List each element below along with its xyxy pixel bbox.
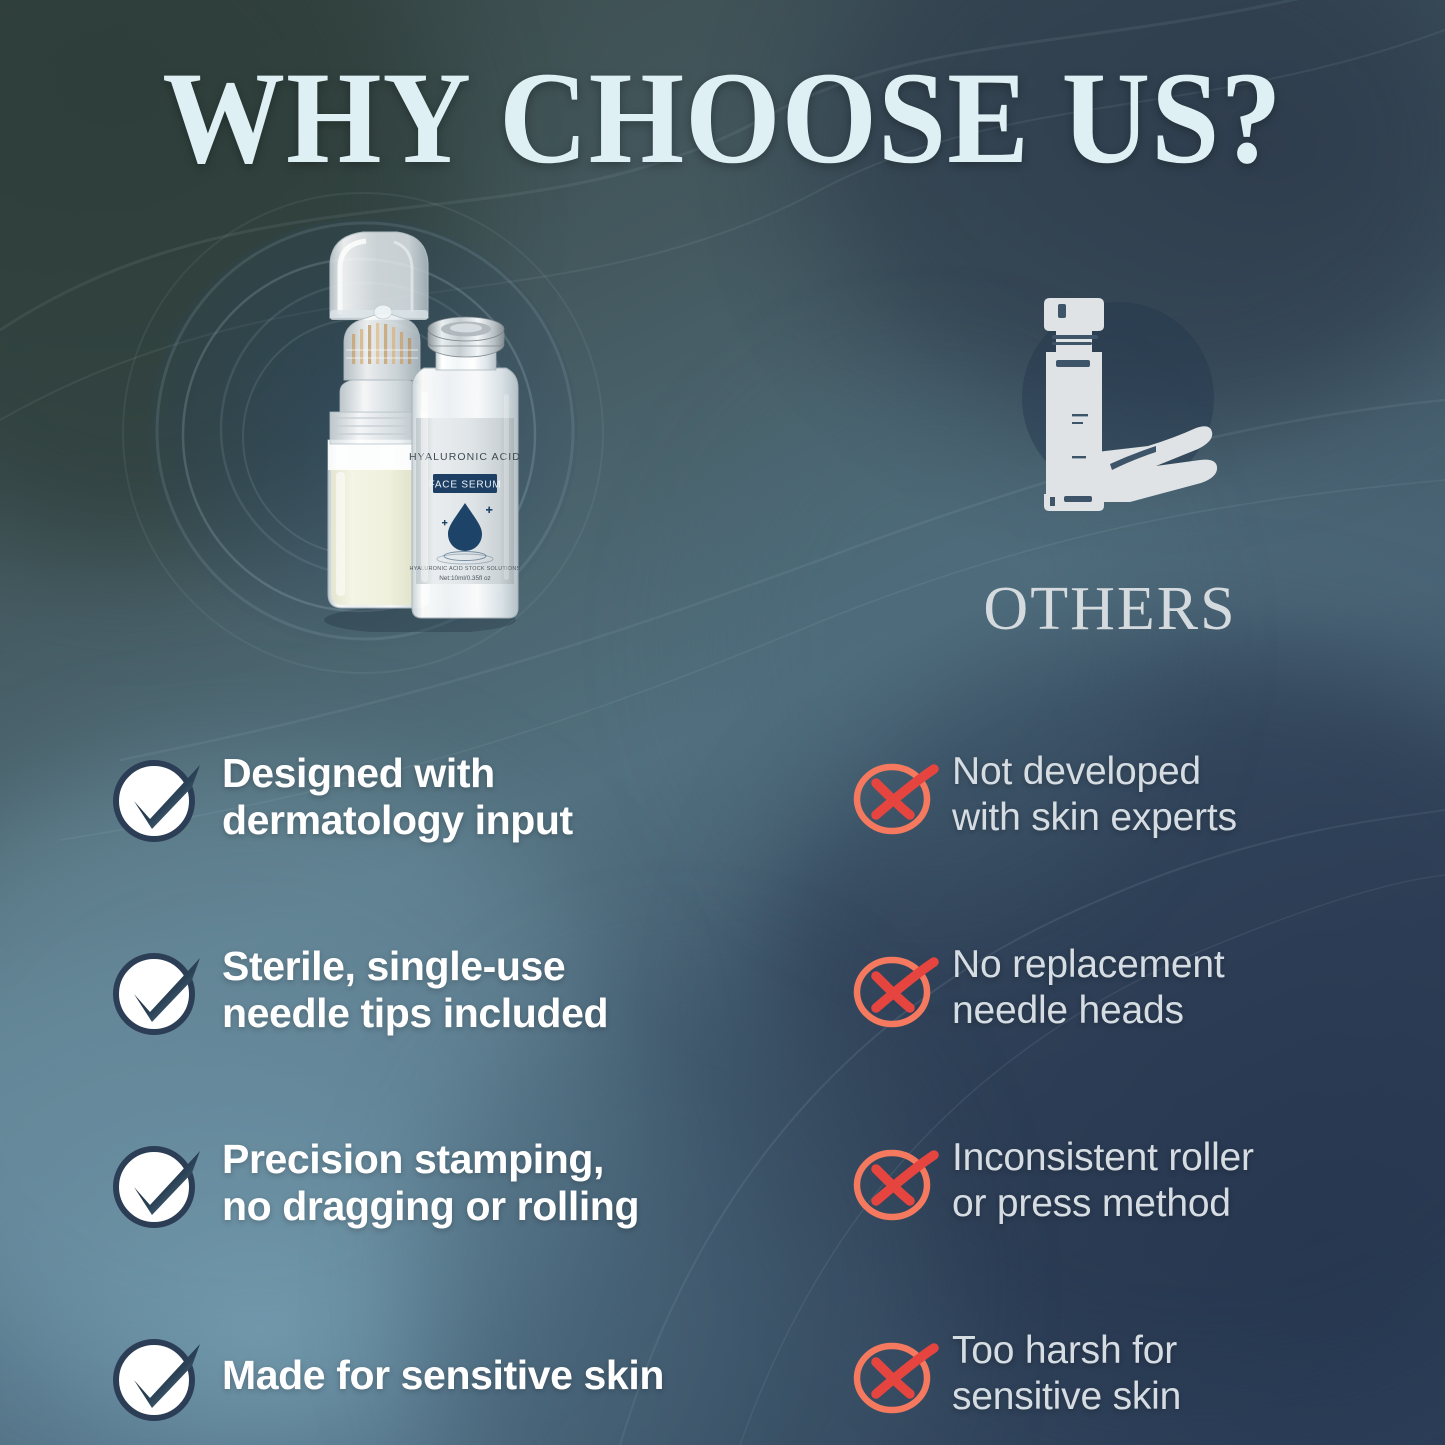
pro-item: Made for sensitive skin <box>104 1279 804 1445</box>
x-circle-icon <box>848 1135 940 1227</box>
con-item: Not developed with skin experts <box>848 698 1368 891</box>
con-line: or press method <box>952 1181 1254 1226</box>
pro-text: Made for sensitive skin <box>222 1352 664 1398</box>
check-circle-icon <box>104 1131 208 1235</box>
pro-line: Designed with <box>222 750 573 796</box>
con-item: Too harsh for sensitive skin <box>848 1277 1368 1445</box>
check-circle-icon <box>104 745 208 849</box>
others-label: OTHERS <box>960 574 1260 645</box>
check-circle-icon <box>104 1324 208 1428</box>
svg-text:Net:10ml/0.35fl oz: Net:10ml/0.35fl oz <box>439 575 491 582</box>
pro-line: dermatology input <box>222 797 573 843</box>
pro-text: Designed with dermatology input <box>222 750 573 843</box>
product-image: HYALURONIC ACID FACE SERUM HYALURONIC AC… <box>300 222 540 632</box>
con-line: Too harsh for <box>952 1328 1181 1373</box>
pro-line: needle tips included <box>222 990 608 1036</box>
con-line: with skin experts <box>952 795 1237 840</box>
con-text: No replacement needle heads <box>952 942 1225 1032</box>
con-text: Not developed with skin experts <box>952 749 1237 839</box>
con-line: sensitive skin <box>952 1374 1181 1419</box>
vial-in-hand-silhouette-icon <box>960 268 1260 568</box>
pro-text: Sterile, single-use needle tips included <box>222 943 608 1036</box>
con-line: No replacement <box>952 942 1225 987</box>
x-circle-icon <box>848 749 940 841</box>
pro-item: Precision stamping, no dragging or rolli… <box>104 1086 804 1279</box>
svg-text:FACE SERUM: FACE SERUM <box>428 480 501 491</box>
con-text: Too harsh for sensitive skin <box>952 1328 1181 1418</box>
con-item: No replacement needle heads <box>848 891 1368 1084</box>
pro-line: Sterile, single-use <box>222 943 608 989</box>
pro-line: Made for sensitive skin <box>222 1352 664 1398</box>
con-item: Inconsistent roller or press method <box>848 1084 1368 1277</box>
con-line: Inconsistent roller <box>952 1135 1254 1180</box>
pro-text: Precision stamping, no dragging or rolli… <box>222 1136 639 1229</box>
infographic-canvas: WHY CHOOSE US? <box>0 0 1445 1445</box>
pro-line: Precision stamping, <box>222 1136 639 1182</box>
con-line: Not developed <box>952 749 1237 794</box>
x-circle-icon <box>848 942 940 1034</box>
others-section: OTHERS <box>960 268 1260 645</box>
con-text: Inconsistent roller or press method <box>952 1135 1254 1225</box>
check-circle-icon <box>104 938 208 1042</box>
pro-item: Sterile, single-use needle tips included <box>104 893 804 1086</box>
page-title: WHY CHOOSE US? <box>51 52 1395 184</box>
pros-column: Designed with dermatology input Sterile,… <box>104 700 804 1445</box>
x-circle-icon <box>848 1328 940 1420</box>
pro-item: Designed with dermatology input <box>104 700 804 893</box>
con-line: needle heads <box>952 988 1225 1033</box>
pro-line: no dragging or rolling <box>222 1183 639 1229</box>
cons-column: Not developed with skin experts No repla… <box>848 698 1368 1445</box>
